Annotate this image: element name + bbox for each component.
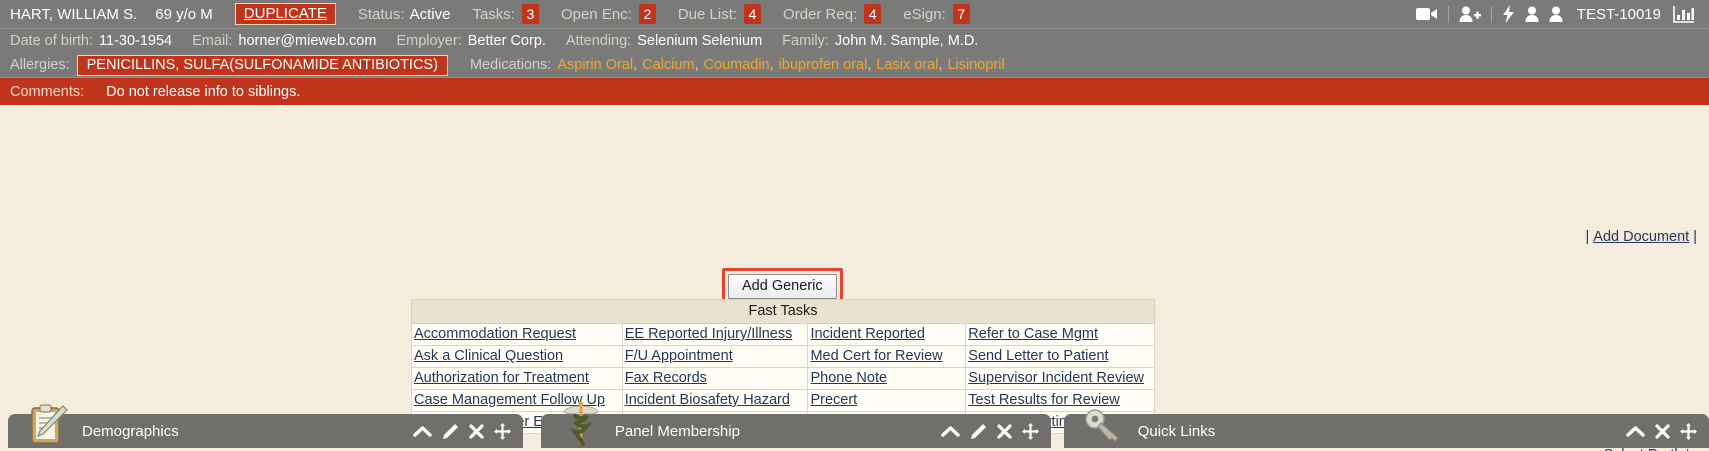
portlet-quick-links[interactable]: Quick Links [1064,414,1709,448]
fast-task-link[interactable]: Accommodation Request [414,326,576,342]
open-enc-count-badge[interactable]: 2 [639,4,656,24]
medication-separator: , [633,57,637,73]
status-group: Status: Active [358,6,451,23]
patient-banner-allergies-row: Allergies: PENICILLINS, SULFA(SULFONAMID… [0,53,1709,77]
caduceus-icon [559,402,603,448]
allergies-value[interactable]: PENICILLINS, SULFA(SULFONAMIDE ANTIBIOTI… [77,55,448,76]
fast-task-link[interactable]: Fax Records [625,370,707,386]
family-value: John M. Sample, M.D. [835,33,978,49]
dob-field: Date of birth: 11-30-1954 [10,33,172,49]
move-icon[interactable] [1680,423,1697,440]
pipe-right: | [1693,229,1697,245]
esign-label: eSign: [903,6,946,23]
fast-task-link[interactable]: Ask a Clinical Question [414,348,563,364]
lightning-bolt-icon[interactable] [1502,5,1515,23]
patient-name: HART, WILLIAM S. [10,6,137,23]
portlet-controls [1626,423,1709,440]
order-req-label: Order Req: [783,6,857,23]
video-camera-icon[interactable] [1416,6,1438,22]
attending-label: Attending: [566,33,631,49]
table-cell: Supervisor Incident Review [966,368,1155,390]
attending-field: Attending: Selenium Selenium [566,33,762,49]
portlet-title: Panel Membership [615,423,740,440]
tasks-count-badge[interactable]: 3 [522,4,539,24]
move-icon[interactable] [494,423,511,440]
table-cell: Fax Records [622,368,808,390]
collapse-icon[interactable] [941,425,960,438]
close-icon[interactable] [997,424,1012,439]
medication-item[interactable]: Coumadin [704,57,770,73]
table-row: Authorization for Treatment Fax Records … [412,368,1155,390]
person-icon[interactable] [1525,6,1539,23]
edit-icon[interactable] [970,423,987,440]
due-list-label: Due List: [678,6,737,23]
portlet-title: Quick Links [1138,423,1216,440]
email-value: horner@mieweb.com [238,33,376,49]
fast-task-link[interactable]: Authorization for Treatment [414,370,589,386]
medication-item[interactable]: Calcium [642,57,694,73]
fast-task-link[interactable]: Med Cert for Review [810,348,942,364]
close-icon[interactable] [469,424,484,439]
portlet-panel-membership[interactable]: Panel Membership [541,414,1051,448]
medication-item[interactable]: Lasix oral [876,57,938,73]
status-label: Status: [358,6,405,23]
tasks-label: Tasks: [472,6,515,23]
fast-task-link[interactable]: Precert [810,392,857,408]
medication-separator: , [938,57,942,73]
tasks-group[interactable]: Tasks: 3 [472,4,539,24]
portlet-controls [941,423,1051,440]
fast-task-link[interactable]: Phone Note [810,370,887,386]
icon-divider [1448,6,1449,23]
fast-task-link[interactable]: Send Letter to Patient [968,348,1108,364]
medication-separator: , [867,57,871,73]
icon-divider [1491,6,1492,23]
fast-task-link[interactable]: Supervisor Incident Review [968,370,1144,386]
employer-label: Employer: [396,33,461,49]
dob-value: 11-30-1954 [99,33,172,49]
attending-value: Selenium Selenium [637,33,762,49]
table-row: Ask a Clinical Question F/U Appointment … [412,346,1155,368]
test-id-label: TEST-10019 [1577,6,1661,23]
fast-task-link[interactable]: Refer to Case Mgmt [968,326,1098,342]
open-enc-group[interactable]: Open Enc: 2 [561,4,656,24]
email-field: Email: horner@mieweb.com [192,33,376,49]
table-cell: Phone Note [808,368,966,390]
due-list-count-badge[interactable]: 4 [744,4,761,24]
duplicate-badge[interactable]: DUPLICATE [235,3,336,25]
table-cell: Send Letter to Patient [966,346,1155,368]
employer-field: Employer: Better Corp. [396,33,545,49]
family-label: Family: [782,33,829,49]
fast-tasks-title: Fast Tasks [412,300,1155,324]
portlet-bar: Demographics [0,408,1709,448]
fast-tasks-header-row: Fast Tasks [412,300,1155,324]
fast-task-link[interactable]: EE Reported Injury/Illness [625,326,793,342]
clipboard-pencil-icon [26,402,70,448]
person-icon[interactable] [1549,6,1563,23]
bar-chart-icon[interactable] [1673,5,1695,23]
comments-bar: Comments: Do not release info to sibling… [0,77,1709,105]
close-icon[interactable] [1655,424,1670,439]
portlet-controls [413,423,523,440]
banner-icon-tray: TEST-10019 [1416,5,1701,23]
fast-task-link[interactable]: F/U Appointment [625,348,733,364]
fast-task-link[interactable]: Incident Biosafety Hazard [625,392,790,408]
medication-item[interactable]: ibuprofen oral [779,57,868,73]
table-cell: Med Cert for Review [808,346,966,368]
employer-value: Better Corp. [468,33,546,49]
table-row: Accommodation Request EE Reported Injury… [412,324,1155,346]
fast-task-link[interactable]: Incident Reported [810,326,924,342]
comments-label: Comments: [10,84,84,100]
patient-banner: HART, WILLIAM S. 69 y/o M DUPLICATE Stat… [0,0,1709,105]
edit-icon[interactable] [442,423,459,440]
fast-task-link[interactable]: Test Results for Review [968,392,1120,408]
due-list-group[interactable]: Due List: 4 [678,4,761,24]
table-cell: Authorization for Treatment [412,368,623,390]
table-cell: F/U Appointment [622,346,808,368]
medication-separator: , [770,57,774,73]
add-document-row: |Add Document| [1586,229,1697,245]
esign-group[interactable]: eSign: 7 [903,4,970,24]
add-document-link[interactable]: Add Document [1593,229,1689,245]
pipe-left: | [1586,229,1590,245]
family-field: Family: John M. Sample, M.D. [782,33,978,49]
collapse-icon[interactable] [1626,425,1645,438]
portlet-title: Demographics [82,423,179,440]
medication-item[interactable]: Aspirin Oral [557,57,633,73]
add-user-icon[interactable] [1459,6,1481,23]
add-generic-button[interactable]: Add Generic [728,274,837,299]
medications-label: Medications: [470,57,551,73]
open-enc-label: Open Enc: [561,6,632,23]
collapse-icon[interactable] [413,425,432,438]
table-cell: Refer to Case Mgmt [966,324,1155,346]
order-req-count-badge[interactable]: 4 [864,4,881,24]
key-icon [1082,402,1126,448]
table-cell: Accommodation Request [412,324,623,346]
patient-banner-demographics-row: Date of birth: 11-30-1954 Email: horner@… [0,29,1709,53]
order-req-group[interactable]: Order Req: 4 [783,4,881,24]
medication-separator: , [695,57,699,73]
allergies-label: Allergies: [10,57,70,73]
main-content: |Add Document| Add Generic Fast Tasks Ac… [0,105,1709,448]
medication-item[interactable]: Lisinopril [947,57,1004,73]
table-cell: EE Reported Injury/Illness [622,324,808,346]
table-cell: Incident Reported [808,324,966,346]
comments-text: Do not release info to siblings. [106,84,300,100]
move-icon[interactable] [1022,423,1039,440]
patient-age-sex: 69 y/o M [155,6,213,23]
dob-label: Date of birth: [10,33,93,49]
esign-count-badge[interactable]: 7 [953,4,970,24]
status-value: Active [410,6,451,23]
patient-banner-primary-row: HART, WILLIAM S. 69 y/o M DUPLICATE Stat… [0,0,1709,29]
email-label: Email: [192,33,232,49]
table-cell: Ask a Clinical Question [412,346,623,368]
portlet-demographics[interactable]: Demographics [8,414,523,448]
fast-task-link[interactable]: Case Management Follow Up [414,392,605,408]
